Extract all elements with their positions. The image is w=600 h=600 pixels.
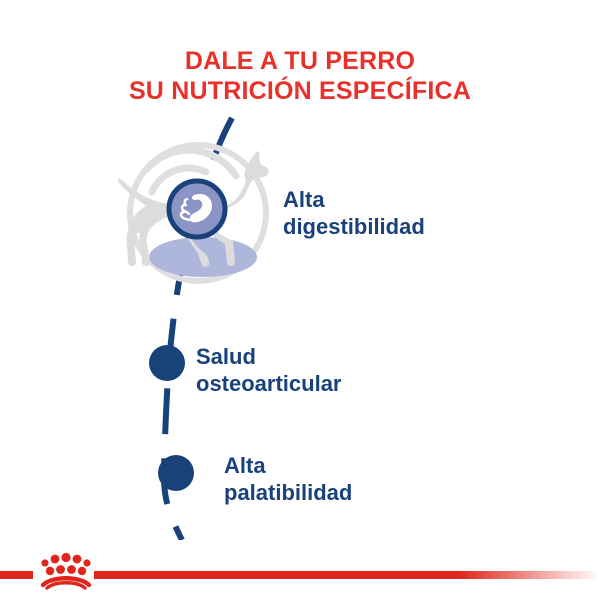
feature-1-line-2: osteoarticular	[196, 370, 342, 397]
brand-bar-right	[94, 571, 600, 579]
feature-label-palatibilidad: Alta palatibilidad	[224, 452, 352, 506]
crown-arc-inner	[47, 583, 85, 588]
promo-graphic: DALE A TU PERRO SU NUTRICIÓN ESPECÍFICA	[0, 0, 600, 600]
bullet-dot-osteoarticular	[149, 345, 185, 381]
stomach-badge-circle	[169, 181, 225, 237]
royal-canin-crown-logo	[41, 553, 90, 588]
brand-bar-left	[0, 571, 33, 579]
dog-stomach-icon	[118, 145, 269, 281]
bullet-dot-palatibilidad	[158, 455, 194, 491]
feature-label-digestibilidad: Alta digestibilidad	[283, 186, 425, 240]
feature-2-line-2: palatibilidad	[224, 479, 352, 506]
feature-label-osteoarticular: Salud osteoarticular	[196, 343, 342, 397]
feature-2-line-1: Alta	[224, 452, 352, 479]
feature-0-line-2: digestibilidad	[283, 213, 425, 240]
feature-0-line-1: Alta	[283, 186, 425, 213]
feature-1-line-1: Salud	[196, 343, 342, 370]
brand-footer	[0, 540, 600, 600]
